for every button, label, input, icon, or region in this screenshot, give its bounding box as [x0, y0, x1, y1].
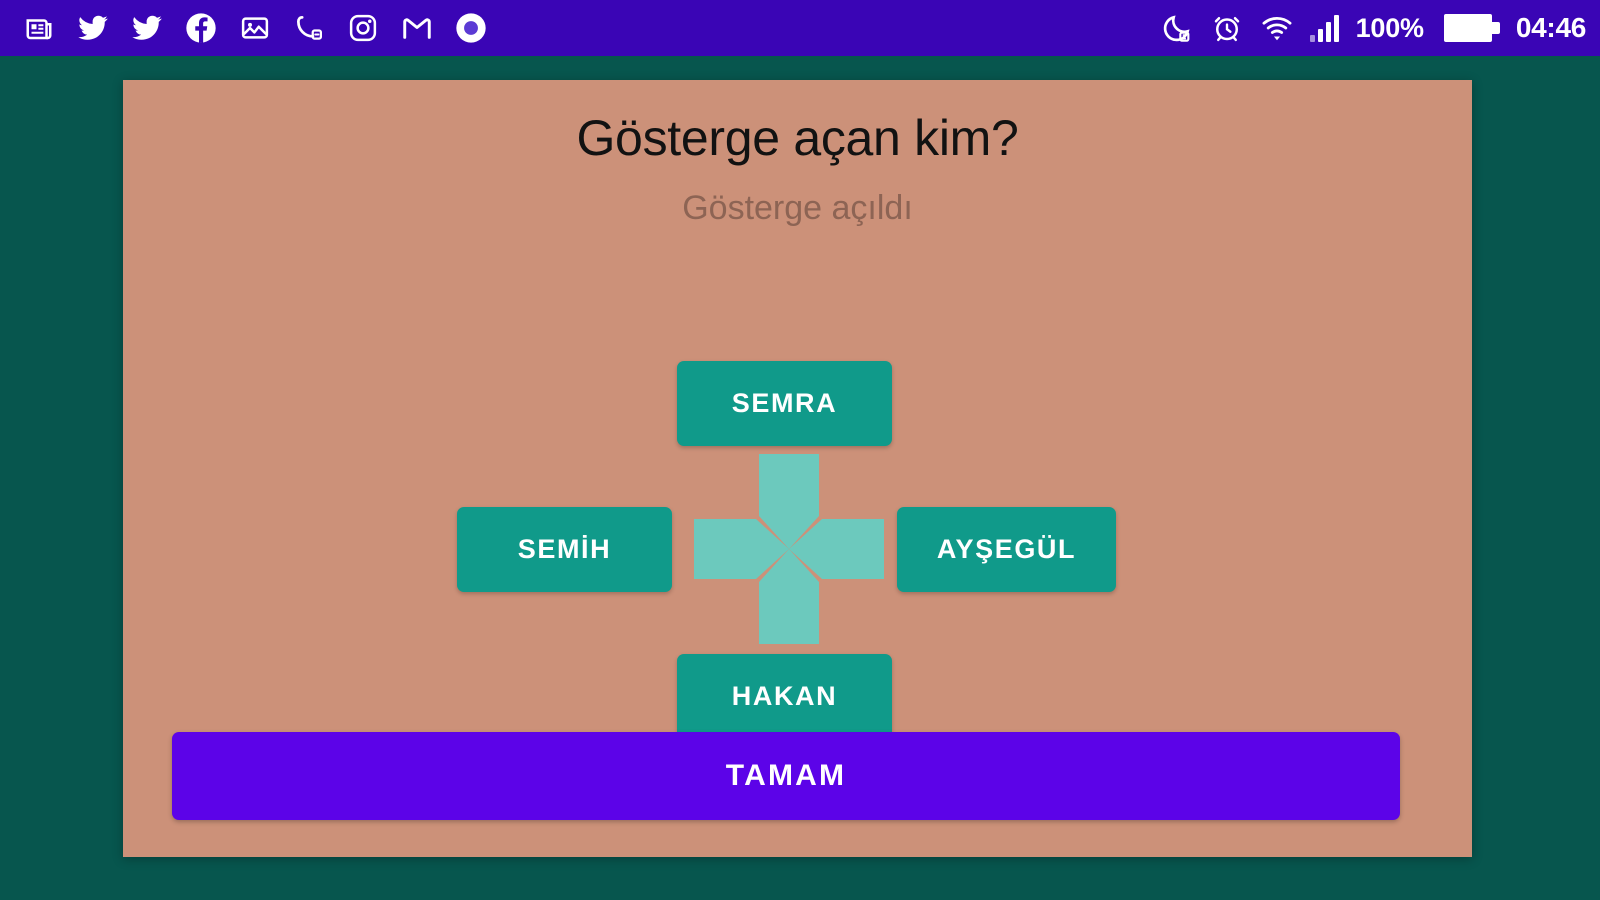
- news-icon: [22, 11, 56, 45]
- facebook-icon: [184, 11, 218, 45]
- night-mode-icon: [1160, 11, 1194, 45]
- system-status-group: 100% 04:46: [1160, 11, 1586, 45]
- battery-percent-label: 100%: [1356, 15, 1424, 42]
- choice-button-down[interactable]: HAKAN: [677, 654, 892, 739]
- twitter-icon: [76, 11, 110, 45]
- battery-icon: [1444, 14, 1500, 42]
- question-dialog: Gösterge açan kim? Gösterge açıldı SEMRA…: [123, 80, 1472, 857]
- gallery-icon: [238, 11, 272, 45]
- dialog-title: Gösterge açan kim?: [123, 108, 1472, 168]
- wifi-icon: [1260, 11, 1294, 45]
- status-bar: 100% 04:46: [0, 0, 1600, 56]
- choice-button-right[interactable]: AYŞEGÜL: [897, 507, 1116, 592]
- dpad-choice-cluster: SEMRA AYŞEGÜL HAKAN SEMİH: [123, 283, 1472, 683]
- dpad-center-icon: [694, 454, 884, 644]
- circle-app-icon: [454, 11, 488, 45]
- twitter-icon: [130, 11, 164, 45]
- ok-button[interactable]: TAMAM: [172, 732, 1400, 820]
- notification-icon-group: [22, 11, 488, 45]
- choice-button-up[interactable]: SEMRA: [677, 361, 892, 446]
- do-not-disturb-call-icon: [292, 11, 326, 45]
- choice-button-left[interactable]: SEMİH: [457, 507, 672, 592]
- cellular-signal-icon: [1310, 14, 1340, 42]
- instagram-icon: [346, 11, 380, 45]
- dialog-subtitle: Gösterge açıldı: [123, 188, 1472, 229]
- alarm-icon: [1210, 11, 1244, 45]
- gmail-icon: [400, 11, 434, 45]
- status-bar-clock: 04:46: [1516, 14, 1586, 42]
